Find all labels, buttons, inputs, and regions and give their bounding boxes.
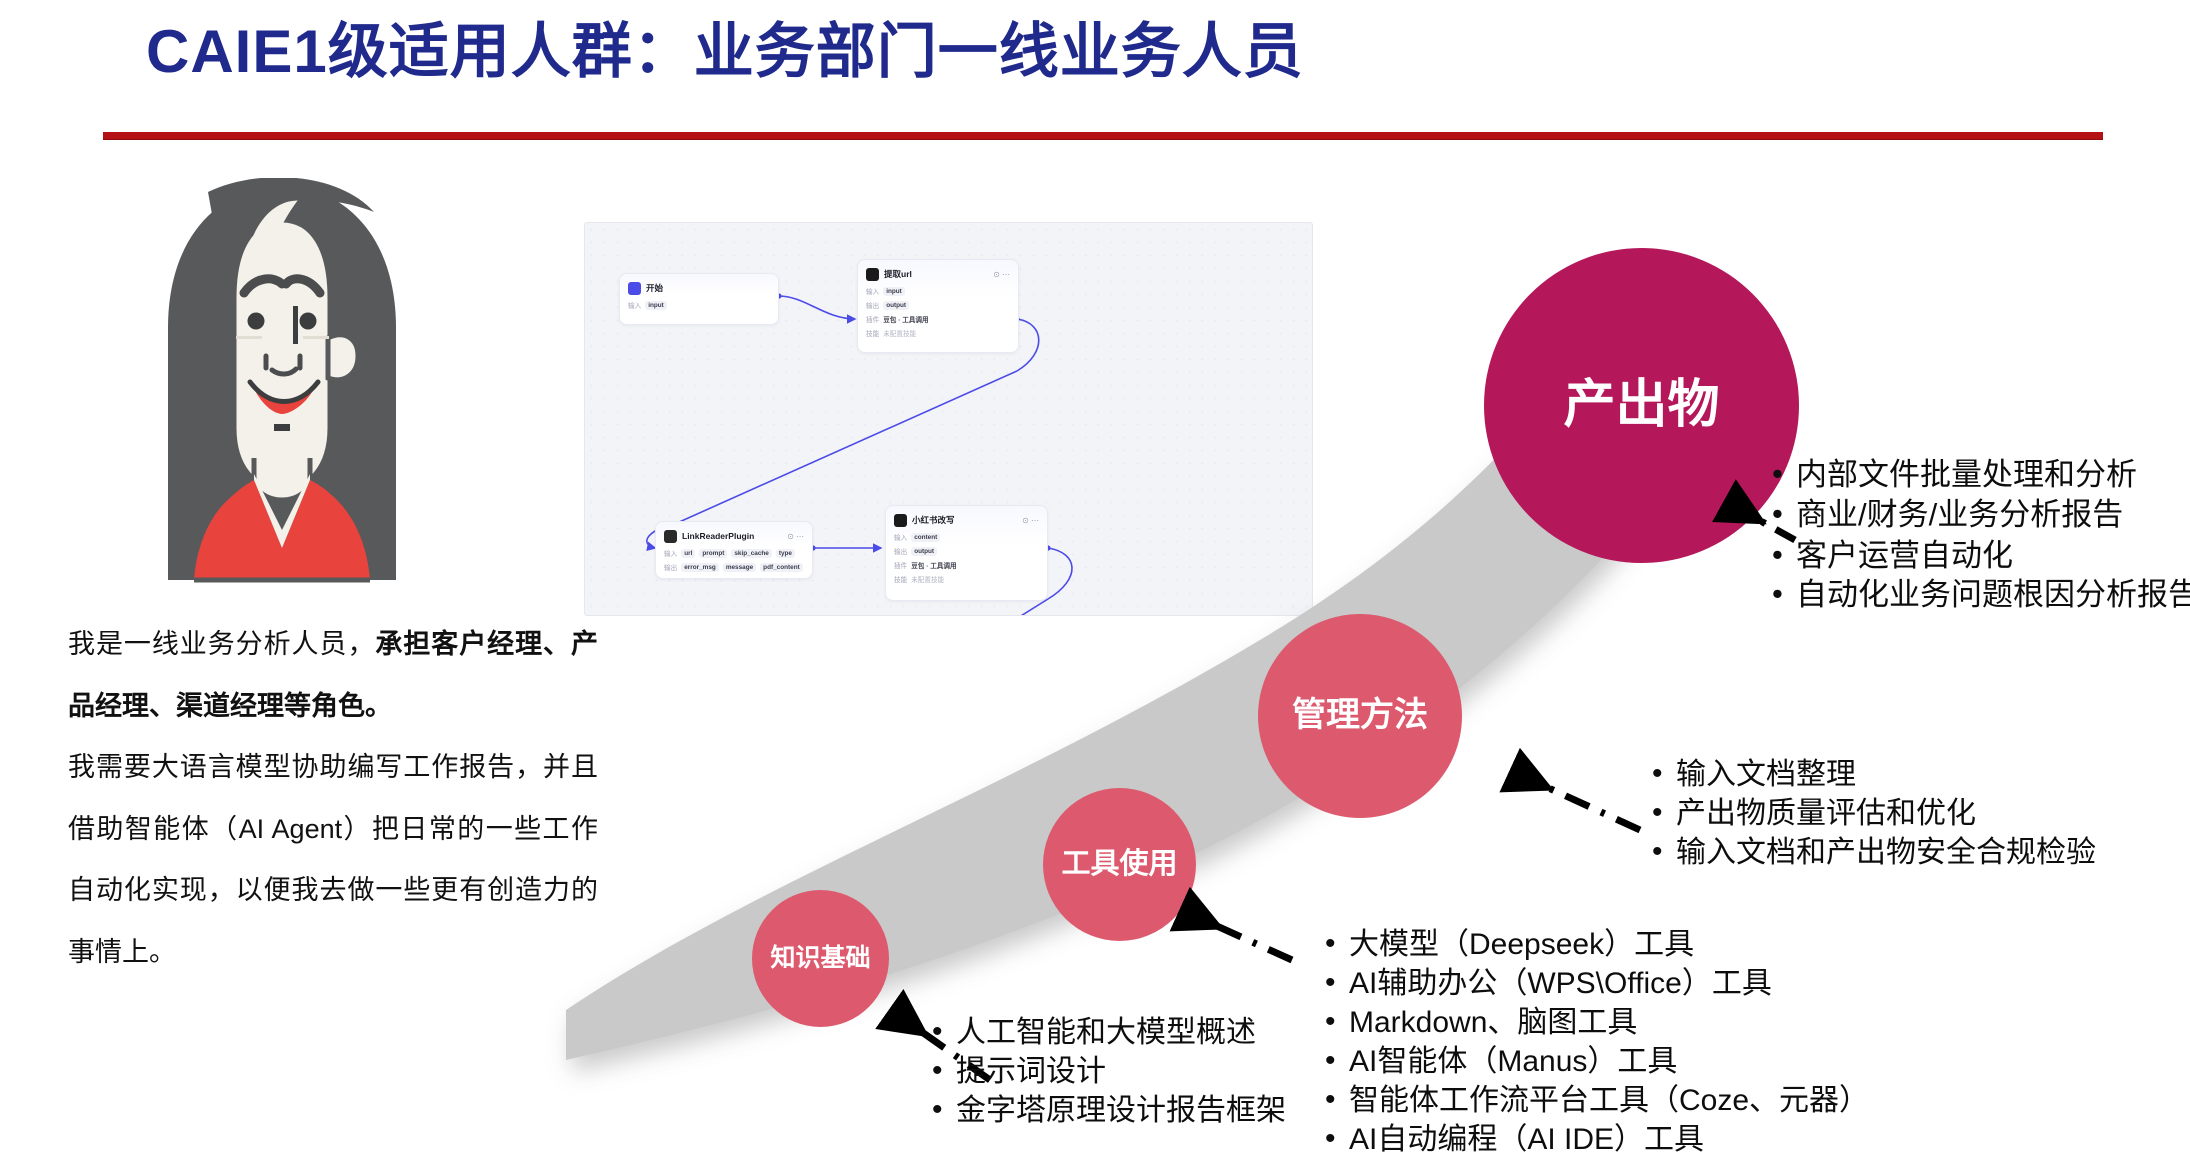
node-field-row: 输入 content bbox=[894, 532, 1039, 542]
node-header: 开始 bbox=[628, 280, 770, 296]
field-pill: message bbox=[723, 563, 756, 572]
node-field-row: 输出 output bbox=[894, 546, 1039, 556]
title-divider bbox=[103, 132, 2103, 139]
stage-circle-outputs[interactable]: 产出物 bbox=[1484, 248, 1799, 563]
node-field-row: 输出 error_msg message pdf_content bbox=[664, 562, 804, 572]
field-key: 输出 bbox=[866, 300, 879, 310]
workflow-node-xiaohongshu-rewrite[interactable]: 小红书改写 ⊙ ⋯ 输入 content 输出 output 插件 豆包 · 工… bbox=[885, 505, 1048, 601]
persona-description: 我是一线业务分析人员，承担客户经理、产品经理、渠道经理等角色。 我需要大语言模型… bbox=[68, 614, 598, 983]
field-key: 插件 bbox=[866, 314, 879, 324]
field-pill: error_msg bbox=[681, 563, 719, 572]
field-value: 豆包 · 工具调用 bbox=[883, 314, 928, 324]
workflow-node-start[interactable]: 开始 输入 input bbox=[619, 273, 779, 325]
field-key: 输入 bbox=[894, 532, 907, 542]
connector-methods bbox=[1516, 773, 1640, 830]
list-item: 提示词设计 bbox=[930, 1052, 1286, 1091]
stage-circle-label: 工具使用 bbox=[1061, 849, 1177, 881]
list-item: 客户运营自动化 bbox=[1770, 536, 2190, 576]
field-key: 输入 bbox=[628, 300, 641, 310]
list-item: 商业/财务/业务分析报告 bbox=[1770, 495, 2190, 535]
node-field-row: 输入 url prompt skip_cache type bbox=[664, 548, 804, 558]
stage-circle-label: 管理方法 bbox=[1292, 697, 1428, 734]
list-item: AI智能体（Manus）工具 bbox=[1323, 1042, 1869, 1081]
node-title: 开始 bbox=[646, 282, 663, 294]
field-key: 输出 bbox=[894, 546, 907, 556]
field-pill: input bbox=[883, 287, 905, 296]
field-key: 技能 bbox=[894, 574, 907, 584]
field-key: 输入 bbox=[866, 286, 879, 296]
field-pill: prompt bbox=[699, 549, 727, 558]
slide-canvas: CAIE1级适用人群：业务部门一线业务人员 bbox=[0, 0, 2190, 1170]
field-key: 插件 bbox=[894, 560, 907, 570]
list-item: 输入文档整理 bbox=[1650, 755, 2096, 794]
node-field-row: 输出 output bbox=[866, 300, 1010, 310]
field-value: 豆包 · 工具调用 bbox=[911, 560, 956, 570]
node-field-row: 技能 未配置技能 bbox=[894, 574, 1039, 584]
bullet-list-outputs: 内部文件批量处理和分析 商业/财务/业务分析报告 客户运营自动化 自动化业务问题… bbox=[1770, 455, 2190, 614]
node-actions[interactable]: ⊙ ⋯ bbox=[993, 270, 1010, 279]
field-pill: type bbox=[776, 549, 795, 558]
field-pill: output bbox=[883, 301, 909, 310]
list-item: 内部文件批量处理和分析 bbox=[1770, 455, 2190, 495]
page-title: CAIE1级适用人群：业务部门一线业务人员 bbox=[146, 14, 1304, 89]
list-item: AI辅助办公（WPS\Office）工具 bbox=[1323, 964, 1869, 1003]
field-pill: skip_cache bbox=[731, 549, 771, 558]
agent-workflow-canvas[interactable]: 开始 输入 input 提取url ⊙ ⋯ 输入 input 输出 output bbox=[584, 222, 1313, 616]
field-pill: url bbox=[681, 549, 695, 558]
field-key: 输出 bbox=[664, 562, 677, 572]
node-actions[interactable]: ⊙ ⋯ bbox=[1022, 516, 1039, 525]
list-item: 大模型（Deepseek）工具 bbox=[1323, 925, 1869, 964]
node-field-row: 插件 豆包 · 工具调用 bbox=[866, 314, 1010, 324]
field-key: 输入 bbox=[664, 548, 677, 558]
node-field-row: 输入 input bbox=[866, 286, 1010, 296]
node-header: 小红书改写 ⊙ ⋯ bbox=[894, 512, 1039, 528]
field-value: 未配置技能 bbox=[883, 328, 916, 338]
list-item: 人工智能和大模型概述 bbox=[930, 1013, 1286, 1052]
plugin-icon bbox=[664, 530, 677, 543]
persona-line1-plain: 我是一线业务分析人员， bbox=[68, 629, 375, 659]
female-business-analyst-avatar bbox=[148, 178, 416, 588]
list-item: 智能体工作流平台工具（Coze、元器） bbox=[1323, 1081, 1869, 1120]
list-item: 金字塔原理设计报告框架 bbox=[930, 1091, 1286, 1130]
node-actions[interactable]: ⊙ ⋯ bbox=[787, 532, 804, 541]
stage-circle-label: 知识基础 bbox=[770, 945, 870, 973]
connector-tools bbox=[1186, 912, 1292, 960]
list-item: 自动化业务问题根因分析报告 bbox=[1770, 576, 2190, 614]
list-item: 输入文档和产出物安全合规检验 bbox=[1650, 833, 2096, 872]
workflow-node-link-reader-plugin[interactable]: LinkReaderPlugin ⊙ ⋯ 输入 url prompt skip_… bbox=[655, 521, 813, 579]
stage-circle-methods[interactable]: 管理方法 bbox=[1258, 614, 1462, 818]
field-pill: pdf_content bbox=[760, 563, 803, 572]
field-pill: content bbox=[911, 533, 940, 542]
node-header: LinkReaderPlugin ⊙ ⋯ bbox=[664, 528, 804, 544]
list-item: AI自动编程（AI IDE）工具 bbox=[1323, 1120, 1869, 1159]
field-value: 未配置技能 bbox=[911, 574, 944, 584]
field-key: 技能 bbox=[866, 328, 879, 338]
start-icon bbox=[628, 282, 641, 295]
node-title: 小红书改写 bbox=[912, 514, 955, 526]
persona-line2: 我需要大语言模型协助编写工作报告，并且借助智能体（AI Agent）把日常的一些… bbox=[68, 752, 598, 967]
node-title: 提取url bbox=[884, 268, 912, 280]
list-item: 产出物质量评估和优化 bbox=[1650, 794, 2096, 833]
bullet-list-knowledge: 人工智能和大模型概述 提示词设计 金字塔原理设计报告框架 bbox=[930, 1013, 1286, 1130]
stage-circle-label: 产出物 bbox=[1563, 377, 1719, 434]
node-field-row: 技能 未配置技能 bbox=[866, 328, 1010, 338]
node-title: LinkReaderPlugin bbox=[682, 531, 754, 541]
bullet-list-tools: 大模型（Deepseek）工具 AI辅助办公（WPS\Office）工具 Mar… bbox=[1323, 925, 1869, 1159]
node-header: 提取url ⊙ ⋯ bbox=[866, 266, 1010, 282]
stage-circle-tools[interactable]: 工具使用 bbox=[1043, 788, 1196, 941]
llm-icon bbox=[866, 268, 879, 281]
bullet-list-methods: 输入文档整理 产出物质量评估和优化 输入文档和产出物安全合规检验 bbox=[1650, 755, 2096, 872]
stage-circle-knowledge[interactable]: 知识基础 bbox=[752, 890, 889, 1027]
workflow-node-extract-url[interactable]: 提取url ⊙ ⋯ 输入 input 输出 output 插件 豆包 · 工具调… bbox=[857, 259, 1019, 353]
node-field-row: 输入 input bbox=[628, 300, 770, 310]
list-item: Markdown、脑图工具 bbox=[1323, 1003, 1869, 1042]
field-pill: input bbox=[645, 301, 667, 310]
llm-icon bbox=[894, 514, 907, 527]
node-field-row: 插件 豆包 · 工具调用 bbox=[894, 560, 1039, 570]
field-pill: output bbox=[911, 547, 937, 556]
